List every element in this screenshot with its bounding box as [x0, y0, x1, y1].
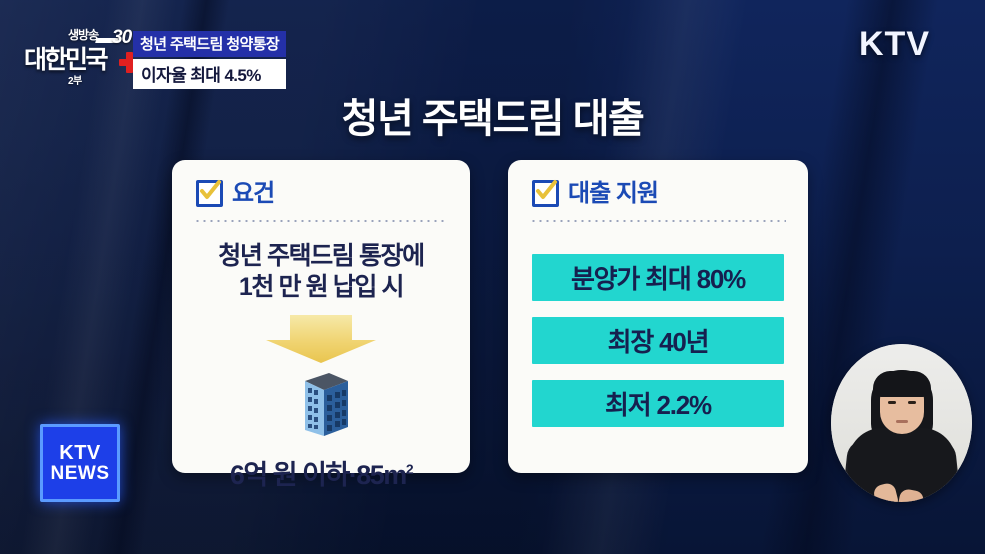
ktv-news-line-2: NEWS	[51, 464, 110, 484]
interpreter-mouth	[896, 420, 908, 423]
banner-line-1: 청년 주택드림 청약통장	[133, 31, 286, 57]
program-logo-part-label: 2부	[68, 72, 82, 87]
loan-support-bar: 분양가 최대 80%	[532, 254, 784, 301]
requirement-text: 청년 주택드림 통장에 1천 만 원 납입 시	[172, 241, 470, 302]
program-logo: 생방송 30 대한민국 2부	[24, 26, 142, 88]
loan-support-card-header: 대출 지원	[508, 160, 808, 207]
interpreter-eye-left	[888, 401, 896, 404]
topic-banner: 청년 주택드림 청약통장 이자율 최대 4.5%	[133, 31, 286, 89]
interpreter-eye-right	[908, 401, 916, 404]
price-limit-label: 6억 원 이하·85m	[230, 460, 406, 490]
requirements-card-header: 요건	[172, 160, 470, 207]
ktv-watermark: KTV	[859, 25, 930, 64]
loan-support-card: 대출 지원 분양가 최대 80% 최장 40년 최저 2.2%	[508, 160, 808, 473]
checkbox-checked-icon	[532, 180, 559, 207]
loan-support-bar: 최장 40년	[532, 317, 784, 364]
banner-line-2: 이자율 최대 4.5%	[133, 59, 286, 89]
interpreter-fringe	[873, 371, 931, 397]
requirements-card: 요건 청년 주택드림 통장에 1천 만 원 납입 시	[172, 160, 470, 473]
loan-support-bar: 최저 2.2%	[532, 380, 784, 427]
program-logo-number: 30	[112, 27, 131, 49]
sign-language-interpreter	[831, 344, 972, 502]
program-logo-channel-name: 대한민국	[24, 40, 106, 76]
requirements-card-title: 요건	[232, 182, 274, 206]
dotted-divider	[194, 220, 448, 222]
ktv-news-line-1: KTV	[59, 443, 101, 464]
requirements-card-body: 청년 주택드림 통장에 1천 만 원 납입 시	[172, 241, 470, 554]
price-limit-text: 6억 원 이하·85m2	[172, 453, 470, 492]
loan-support-card-title: 대출 지원	[568, 182, 658, 206]
requirement-line-2: 1천 만 원 납입 시	[172, 272, 470, 303]
requirement-line-1: 청년 주택드림 통장에	[172, 241, 470, 272]
arrow-down-container	[172, 314, 470, 364]
page-title: 청년 주택드림 대출	[0, 86, 985, 144]
checkbox-checked-icon	[196, 180, 223, 207]
ktv-news-logo: KTV NEWS	[40, 424, 120, 502]
broadcast-screen: 생방송 30 대한민국 2부 청년 주택드림 청약통장 이자율 최대 4.5% …	[0, 0, 985, 554]
building-icon	[291, 372, 351, 444]
building-container	[172, 372, 470, 444]
loan-support-bars: 분양가 최대 80% 최장 40년 최저 2.2%	[508, 222, 808, 427]
price-limit-superscript: 2	[406, 461, 412, 477]
arrow-down-icon	[265, 314, 377, 364]
